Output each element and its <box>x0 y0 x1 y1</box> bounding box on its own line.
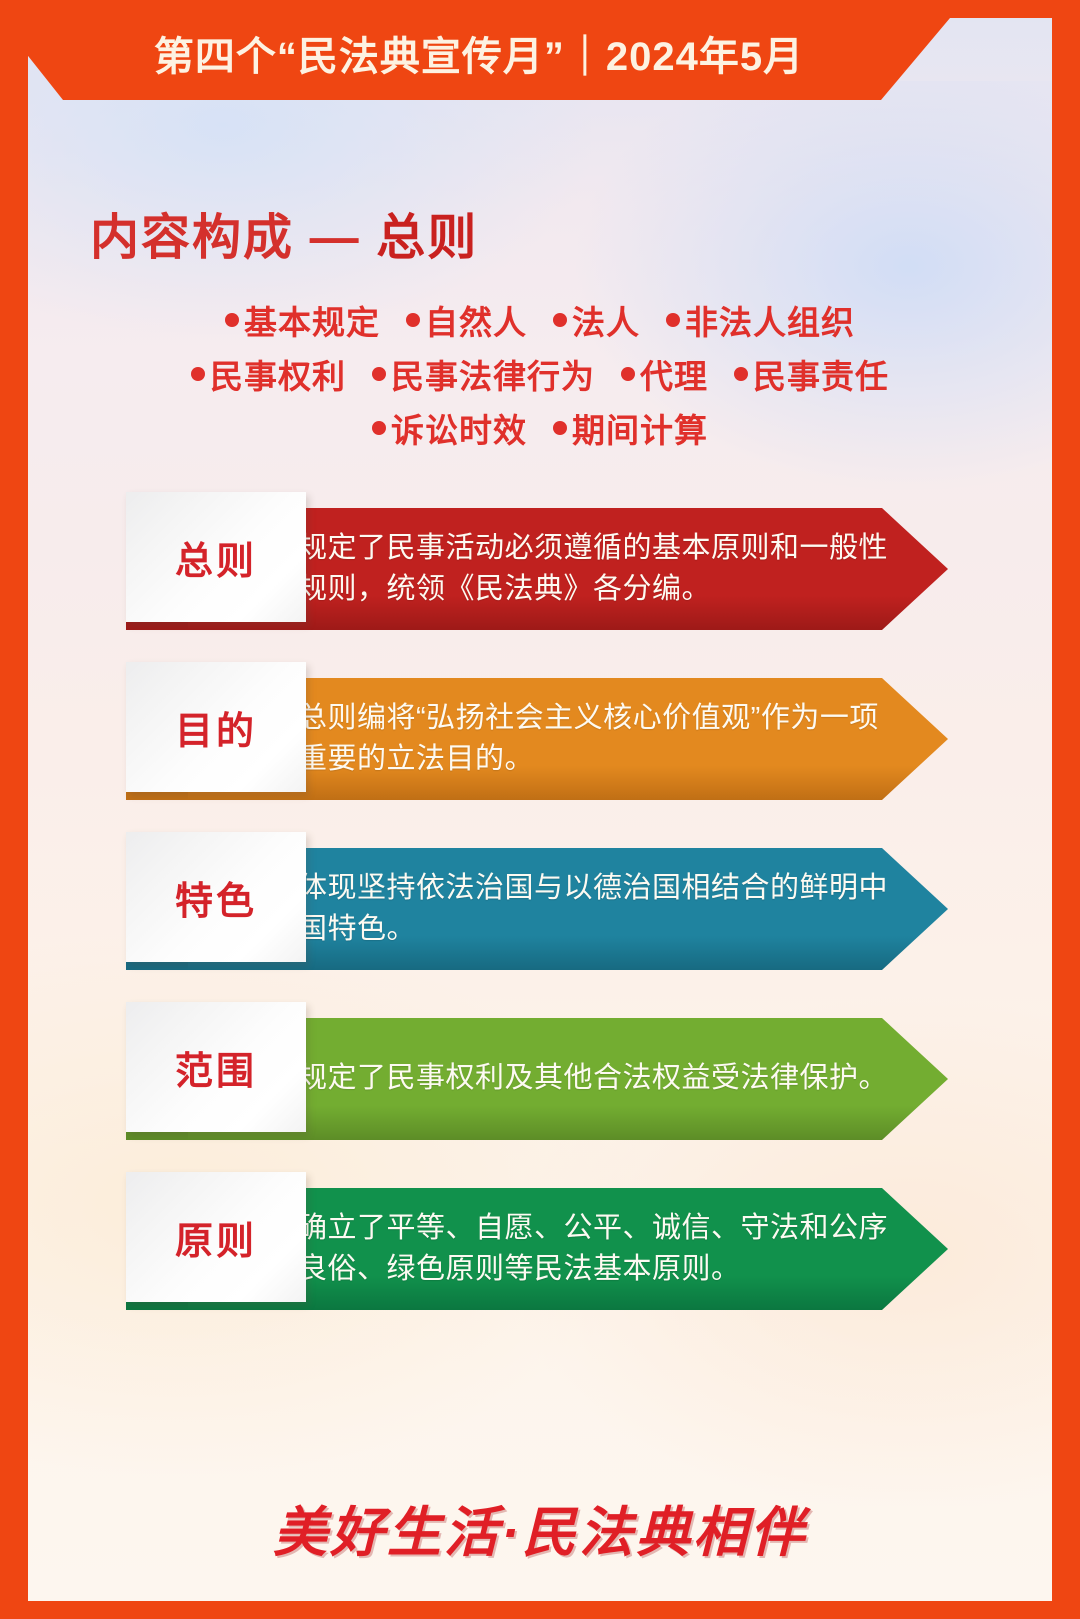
page-title-prefix: 内容构成 — <box>90 211 376 265</box>
keyword-item: 诉讼时效 <box>372 404 527 452</box>
label-card[interactable]: 原则 <box>126 1172 306 1302</box>
keyword-label: 民事权利 <box>210 350 346 398</box>
bullet-dot-icon <box>666 313 680 327</box>
bullet-dot-icon <box>406 313 420 327</box>
keyword-item: 非法人组织 <box>666 296 855 344</box>
keyword-label: 期间计算 <box>572 404 708 452</box>
keyword-item: 代理 <box>621 350 708 398</box>
keyword-item: 基本规定 <box>225 296 380 344</box>
label-card-text: 范围 <box>175 1040 257 1095</box>
footer-slogan: 美好生活·民法典相伴 <box>273 1488 807 1567</box>
content-row[interactable]: 规定了民事活动必须遵循的基本原则和一般性规则，统领《民法典》各分编。总则 <box>28 492 1052 638</box>
keyword-row: 诉讼时效期间计算 <box>90 404 990 452</box>
keyword-item: 自然人 <box>406 296 527 344</box>
label-card[interactable]: 目的 <box>126 662 306 792</box>
label-card-text: 总则 <box>175 530 257 585</box>
keyword-item: 民事权利 <box>191 350 346 398</box>
keyword-row: 民事权利民事法律行为代理民事责任 <box>90 350 990 398</box>
bullet-dot-icon <box>621 367 635 381</box>
keyword-label: 民事责任 <box>753 350 889 398</box>
bullet-dot-icon <box>372 421 386 435</box>
footer: 美好生活·民法典相伴 <box>28 1453 1052 1601</box>
bullet-dot-icon <box>553 313 567 327</box>
poster-root: 第四个“民法典宣传月”｜2024年5月 内容构成 — 总则 基本规定自然人法人非… <box>0 0 1080 1619</box>
content-row[interactable]: 体现坚持依法治国与以德治国相结合的鲜明中国特色。特色 <box>28 832 1052 978</box>
keyword-label: 基本规定 <box>244 296 380 344</box>
poster-page: 第四个“民法典宣传月”｜2024年5月 内容构成 — 总则 基本规定自然人法人非… <box>28 18 1052 1601</box>
keyword-label: 诉讼时效 <box>391 404 527 452</box>
content-row[interactable]: 确立了平等、自愿、公平、诚信、守法和公序良俗、绿色原则等民法基本原则。原则 <box>28 1172 1052 1318</box>
label-card[interactable]: 总则 <box>126 492 306 622</box>
label-card[interactable]: 范围 <box>126 1002 306 1132</box>
content-rows: 规定了民事活动必须遵循的基本原则和一般性规则，统领《民法典》各分编。总则总则编将… <box>28 492 1052 1342</box>
content-row[interactable]: 规定了民事权利及其他合法权益受法律保护。范围 <box>28 1002 1052 1148</box>
page-title-emphasis: 总则 <box>376 211 478 265</box>
keyword-label: 代理 <box>640 350 708 398</box>
keyword-label: 法人 <box>572 296 640 344</box>
keyword-label: 民事法律行为 <box>391 350 595 398</box>
label-card-text: 原则 <box>175 1210 257 1265</box>
label-card-text: 特色 <box>175 870 257 925</box>
bullet-dot-icon <box>372 367 386 381</box>
keyword-list: 基本规定自然人法人非法人组织民事权利民事法律行为代理民事责任诉讼时效期间计算 <box>90 296 990 458</box>
keyword-item: 民事责任 <box>734 350 889 398</box>
bullet-dot-icon <box>191 367 205 381</box>
keyword-label: 自然人 <box>425 296 527 344</box>
keyword-label: 非法人组织 <box>685 296 855 344</box>
bullet-dot-icon <box>734 367 748 381</box>
label-card-text: 目的 <box>175 700 257 755</box>
label-card[interactable]: 特色 <box>126 832 306 962</box>
bullet-dot-icon <box>225 313 239 327</box>
keyword-row: 基本规定自然人法人非法人组织 <box>90 296 990 344</box>
keyword-item: 民事法律行为 <box>372 350 595 398</box>
bullet-dot-icon <box>553 421 567 435</box>
header-banner: 第四个“民法典宣传月”｜2024年5月 <box>28 18 950 100</box>
header-banner-text: 第四个“民法典宣传月”｜2024年5月 <box>154 37 804 81</box>
keyword-item: 期间计算 <box>553 404 708 452</box>
keyword-item: 法人 <box>553 296 640 344</box>
page-title: 内容构成 — 总则 <box>90 198 478 269</box>
content-row[interactable]: 总则编将“弘扬社会主义核心价值观”作为一项重要的立法目的。目的 <box>28 662 1052 808</box>
